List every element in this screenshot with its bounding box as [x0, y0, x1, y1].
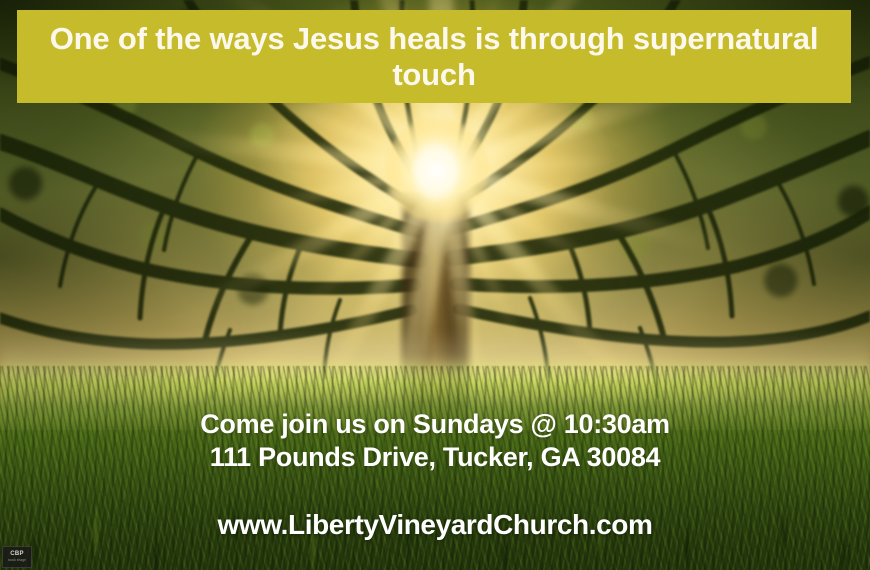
website-url[interactable]: www.LibertyVineyardChurch.com [0, 509, 870, 541]
church-promo-poster: One of the ways Jesus heals is through s… [0, 0, 870, 570]
service-address-line: 111 Pounds Drive, Tucker, GA 30084 [0, 441, 870, 474]
stock-photo-watermark: CBP stock image [2, 546, 32, 568]
headline-line-1: One of the ways Jesus heals is through [50, 21, 625, 56]
watermark-main-text: CBP [10, 551, 24, 557]
watermark-sub-text: stock image [8, 559, 26, 562]
service-time-line: Come join us on Sundays @ 10:30am [0, 408, 870, 441]
headline-banner: One of the ways Jesus heals is through s… [17, 10, 851, 103]
headline-text: One of the ways Jesus heals is through s… [17, 21, 851, 93]
service-info-block: Come join us on Sundays @ 10:30am 111 Po… [0, 408, 870, 475]
